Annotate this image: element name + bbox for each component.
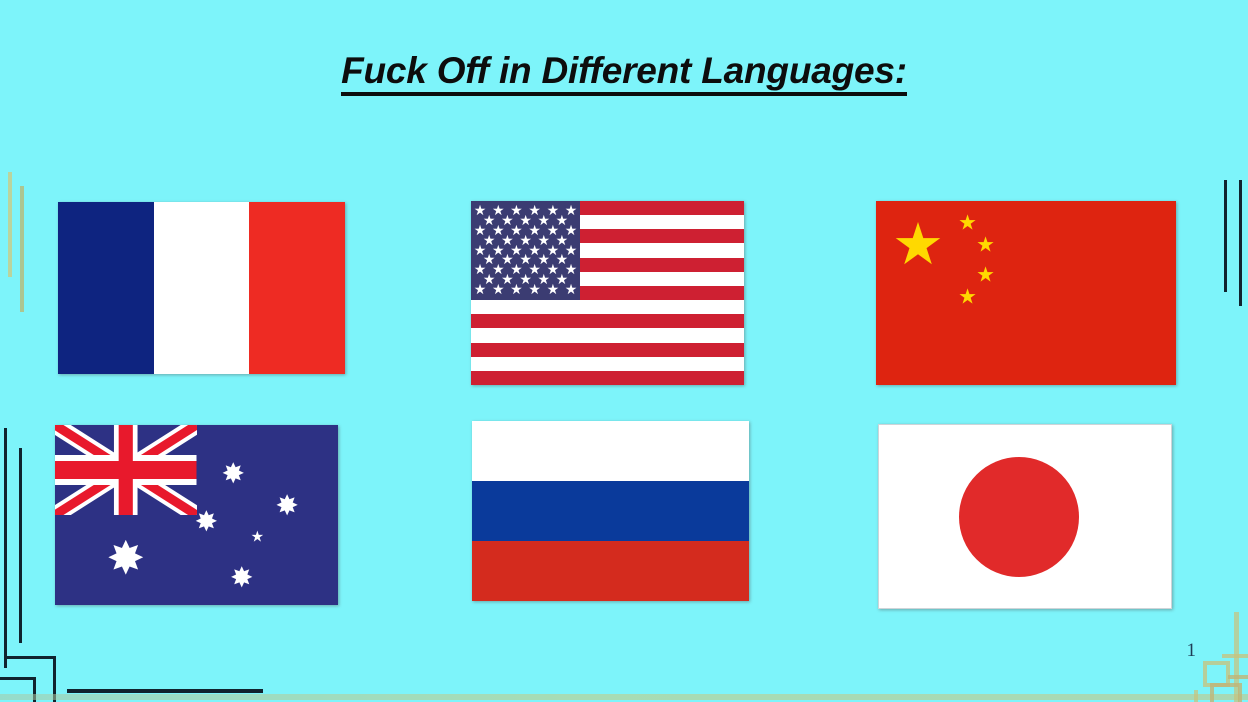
russia-band-white — [472, 421, 749, 481]
deco-navy-horizontal-rule — [67, 689, 263, 693]
flag-russia-icon — [472, 421, 749, 601]
deco-navy-bracket-step-h2 — [0, 677, 35, 680]
flag-usa-icon: ★ ★ ★ ★ ★ ★ ★ ★ ★ ★ ★ ★ — [471, 201, 744, 385]
page-number: 1 — [1187, 640, 1197, 662]
russia-band-blue — [472, 481, 749, 541]
china-star-small: ★ — [958, 286, 977, 307]
deco-navy-line-right-1 — [1224, 180, 1227, 292]
australia-southern-cross-star: ✸ — [275, 492, 298, 520]
flag-france — [58, 202, 345, 374]
usa-canton: ★ ★ ★ ★ ★ ★ ★ ★ ★ ★ ★ ★ — [471, 201, 580, 300]
deco-navy-bracket-step-h1 — [4, 656, 56, 659]
china-star-small: ★ — [976, 235, 995, 256]
flag-japan — [878, 424, 1172, 609]
deco-gold-maze-bar-2 — [1228, 675, 1248, 679]
japan-sun-disc — [959, 457, 1079, 577]
deco-navy-line-right-2 — [1239, 180, 1242, 306]
australia-southern-cross-star-small: ★ — [251, 529, 264, 544]
page-title: Fuck Off in Different Languages: — [0, 50, 1248, 92]
slide-canvas: Fuck Off in Different Languages: ★ — [0, 0, 1248, 702]
usa-star-field: ★ ★ ★ ★ ★ ★ ★ ★ ★ ★ ★ ★ — [471, 201, 580, 300]
china-star-large: ★ — [892, 216, 944, 274]
deco-gold-line-left-1 — [8, 172, 12, 277]
france-band-white — [154, 202, 250, 374]
flag-china-icon: ★ ★ ★ ★ ★ — [876, 201, 1176, 385]
usa-stripe — [471, 314, 744, 328]
deco-gold-maze-bar-1 — [1222, 654, 1248, 658]
deco-navy-bracket-inner — [19, 448, 22, 643]
flag-usa: ★ ★ ★ ★ ★ ★ ★ ★ ★ ★ ★ ★ — [471, 201, 744, 385]
flag-russia — [472, 421, 749, 601]
france-band-blue — [58, 202, 154, 374]
flag-japan-icon — [879, 425, 1171, 608]
france-band-red — [249, 202, 345, 374]
flag-china: ★ ★ ★ ★ ★ — [876, 201, 1176, 385]
deco-gold-baseline — [0, 694, 1248, 700]
deco-navy-bracket-outer — [4, 428, 7, 668]
flag-australia: ✸ ✸ ✸ ✸ ✸ ★ — [55, 425, 338, 605]
australia-southern-cross-star: ✸ — [195, 508, 218, 536]
australia-commonwealth-star: ✸ — [106, 535, 145, 581]
china-star-small: ★ — [958, 213, 977, 234]
australia-southern-cross-star: ✸ — [222, 460, 245, 488]
page-title-text: Fuck Off in Different Languages: — [341, 50, 907, 96]
australia-southern-cross-star: ✸ — [230, 564, 253, 592]
flag-france-icon — [58, 202, 345, 374]
australia-union-jack — [55, 425, 197, 515]
flag-australia-icon: ✸ ✸ ✸ ✸ ✸ ★ — [55, 425, 338, 605]
union-jack-icon — [55, 425, 197, 515]
deco-gold-line-left-2 — [20, 186, 24, 312]
china-star-small: ★ — [976, 264, 995, 285]
deco-gold-maze-bar-3 — [1194, 690, 1198, 702]
russia-band-red — [472, 541, 749, 601]
usa-stripe — [471, 371, 744, 385]
usa-stripe — [471, 343, 744, 357]
deco-gold-maze-box-2 — [1210, 683, 1242, 702]
